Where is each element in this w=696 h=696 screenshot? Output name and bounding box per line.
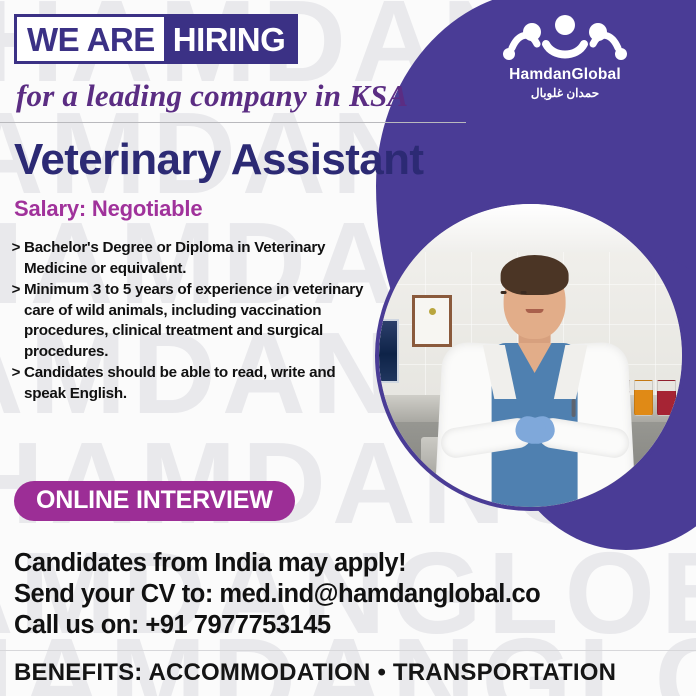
requirement-text: Bachelor's Degree or Diploma in Veterina… [24, 238, 380, 279]
requirement-text: Candidates should be able to read, write… [24, 363, 380, 404]
job-title: Veterinary Assistant [14, 138, 423, 182]
requirements-list: > Bachelor's Degree or Diploma in Veteri… [8, 238, 380, 405]
logo-name: HamdanGlobal [470, 66, 660, 83]
requirement-text: Minimum 3 to 5 years of experience in ve… [24, 280, 380, 362]
poster-subtitle: for a leading company in KSA [16, 78, 408, 114]
online-interview-badge: ONLINE INTERVIEW [14, 481, 295, 521]
contact-line-email[interactable]: Send your CV to: med.ind@hamdanglobal.co [14, 579, 540, 610]
eye-left [500, 291, 506, 294]
contact-line-candidates: Candidates from India may apply! [14, 548, 540, 579]
contact-line-phone[interactable]: Call us on: +91 7977753145 [14, 610, 540, 641]
contact-block: Candidates from India may apply! Send yo… [14, 548, 540, 641]
company-logo: HamdanGlobal حمدان غلوبال [470, 14, 660, 100]
pocket-pen [571, 399, 575, 417]
eye-right [520, 291, 526, 294]
requirement-item: > Bachelor's Degree or Diploma in Veteri… [8, 238, 380, 279]
chevron-right-icon: > [8, 238, 24, 279]
jar [657, 380, 676, 416]
chevron-right-icon: > [8, 363, 24, 404]
chevron-right-icon: > [8, 280, 24, 362]
logo-arabic-name: حمدان غلوبال [470, 86, 660, 100]
hiring-text-part-2: HIRING [164, 17, 296, 61]
requirement-item: > Minimum 3 to 5 years of experience in … [8, 280, 380, 362]
mouth [526, 309, 544, 313]
requirement-item: > Candidates should be able to read, wri… [8, 363, 380, 404]
clinic-ceiling [379, 204, 682, 252]
photo-inner [379, 204, 682, 507]
veterinarian-photo [375, 200, 686, 511]
xray-lightbox [379, 319, 399, 383]
footer-divider [0, 650, 696, 651]
benefits-text: BENEFITS: ACCOMMODATION • TRANSPORTATION [14, 659, 616, 687]
job-poster: HAMDANGLOBAL HAMDANGLOBAL HAMDANGLOBAL H… [0, 0, 696, 696]
veterinarian-figure [432, 247, 637, 507]
we-are-hiring-banner: WE ARE HIRING [14, 14, 298, 64]
salary-text: Salary: Negotiable [14, 196, 202, 222]
hair [501, 255, 569, 295]
hiring-text-part-1: WE ARE [17, 17, 164, 61]
three-people-icon [490, 14, 640, 62]
header-divider [0, 122, 466, 123]
